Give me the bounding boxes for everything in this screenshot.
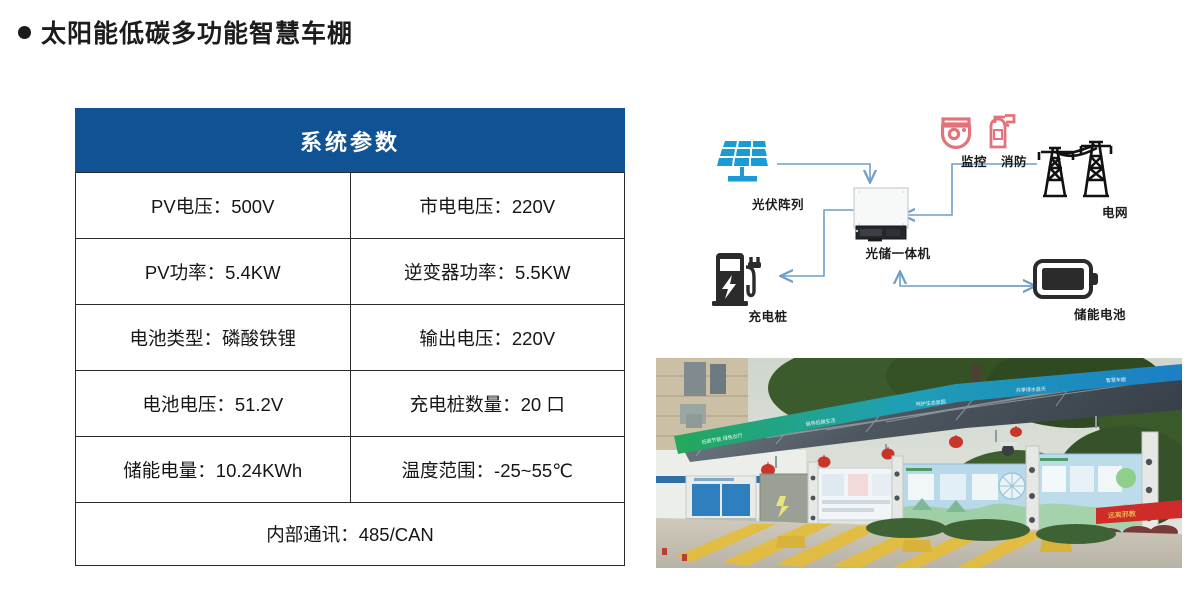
table-row: 电池电压：51.2V 充电桩数量：20 口 [76, 371, 625, 437]
table-header-row: 系统参数 [76, 109, 625, 173]
node-label-pv: 光伏阵列 [752, 194, 804, 213]
carport-photo: 低碳节能 绿色出行 倡导低碳生活 呵护生态家园 共享绿水蓝天 智慧车棚 [656, 358, 1182, 568]
spec-cell-battery-voltage: 电池电压：51.2V [76, 371, 351, 437]
spec-cell-mains-voltage: 市电电压：220V [350, 173, 625, 239]
node-label-charger: 充电桩 [748, 306, 787, 325]
system-parameters-table: 系统参数 PV电压：500V 市电电压：220V PV功率：5.4KW 逆变器功… [75, 108, 625, 566]
carport-photo-image: 低碳节能 绿色出行 倡导低碳生活 呵护生态家园 共享绿水蓝天 智慧车棚 [656, 358, 1182, 568]
table-row: 储能电量：10.24KWh 温度范围：-25~55℃ [76, 437, 625, 503]
node-label-battery: 储能电池 [1074, 304, 1126, 323]
spec-cell-battery-type: 电池类型：磷酸铁锂 [76, 305, 351, 371]
inverter-cabinet-icon [850, 186, 912, 244]
spec-cell-pv-power: PV功率：5.4KW [76, 239, 351, 305]
security-camera-icon [938, 116, 974, 150]
node-label-grid: 电网 [1102, 202, 1128, 221]
spec-cell-pv-voltage: PV电压：500V [76, 173, 351, 239]
table-row: PV电压：500V 市电电压：220V [76, 173, 625, 239]
flow-pv-to-inverter [777, 164, 870, 181]
spec-cell-inverter-power: 逆变器功率：5.5KW [350, 239, 625, 305]
charging-pile-icon [706, 251, 768, 307]
svg-text:智慧车棚: 智慧车棚 [1106, 376, 1126, 384]
spec-cell-storage-capacity: 储能电量：10.24KWh [76, 437, 351, 503]
table-title-cell: 系统参数 [76, 109, 625, 173]
page-title-text: 太阳能低碳多功能智慧车棚 [41, 14, 353, 50]
spec-cell-internal-comm: 内部通讯：485/CAN [76, 503, 625, 566]
system-flow-diagram: 光伏阵列 监控 消防 [652, 106, 1192, 351]
spec-cell-output-voltage: 输出电压：220V [350, 305, 625, 371]
spec-cell-charger-count: 充电桩数量：20 口 [350, 371, 625, 437]
page-title: 太阳能低碳多功能智慧车棚 [18, 14, 353, 50]
battery-icon [1033, 258, 1101, 302]
flow-battery-to-inverter [900, 273, 1030, 286]
node-label-monitor: 监控 [961, 151, 987, 170]
spec-cell-temperature-range: 温度范围：-25~55℃ [350, 437, 625, 503]
flow-grid-to-inverter [904, 164, 1037, 215]
table-row: PV功率：5.4KW 逆变器功率：5.5KW [76, 239, 625, 305]
bullet-dot-icon [18, 26, 31, 39]
node-label-inverter: 光储一体机 [865, 243, 930, 262]
power-tower-icon [1029, 134, 1115, 200]
solar-panel-icon [716, 138, 778, 190]
table-row: 电池类型：磷酸铁锂 输出电压：220V [76, 305, 625, 371]
table-row: 内部通讯：485/CAN [76, 503, 625, 566]
fire-extinguisher-icon [983, 114, 1017, 150]
node-label-fire: 消防 [1001, 151, 1027, 170]
